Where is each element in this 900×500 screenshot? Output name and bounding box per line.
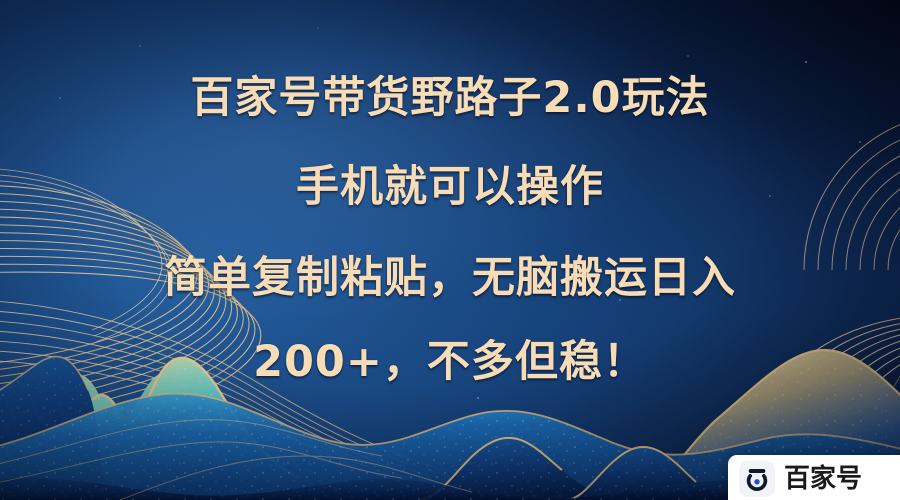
decorative-artwork [0, 0, 900, 500]
headline-line-3: 简单复制粘贴，无脑搬运日入 [0, 243, 900, 305]
promo-poster: 百家号带货野路子2.0玩法 手机就可以操作 简单复制粘贴，无脑搬运日入 200+… [0, 0, 900, 500]
headline-block: 百家号带货野路子2.0玩法 手机就可以操作 简单复制粘贴，无脑搬运日入 200+… [0, 0, 900, 500]
baijiahao-brand-badge[interactable]: 百家号 [728, 455, 900, 500]
sparkle-stars [59, 27, 861, 399]
headline-line-2: 手机就可以操作 [0, 152, 900, 214]
gold-contour-lines-over-mountains [0, 420, 472, 500]
gold-arc-bundle-right-upper [804, 112, 900, 270]
background-texture-noise [0, 0, 900, 500]
gold-line-sweep-left-lower [0, 300, 476, 500]
baijiahao-brand-name: 百家号 [784, 466, 862, 492]
headline-line-1: 百家号带货野路子2.0玩法 [0, 63, 900, 125]
background-vignette [0, 0, 900, 500]
gold-line-fan-left-upper [0, 185, 261, 445]
background-light-sheen [0, 0, 900, 500]
gold-line-fan-left-waist [0, 168, 173, 342]
mountain-far-left-ridge [0, 357, 104, 500]
mountain-center-crest [52, 358, 320, 500]
mountain-foreground-twin-humps [418, 438, 726, 500]
background-base-gradient [0, 0, 900, 500]
headline-line-4: 200+，不多但稳！ [0, 327, 900, 389]
mountain-left-teal-peak [0, 371, 300, 500]
baijiahao-logo-icon [739, 461, 775, 497]
